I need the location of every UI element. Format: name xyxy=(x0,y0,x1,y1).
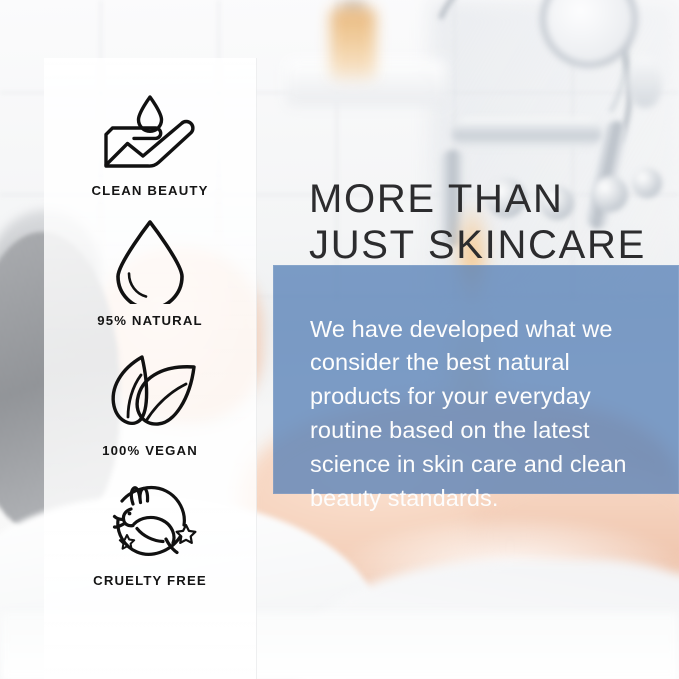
amber-bottle xyxy=(330,8,376,82)
trust-badge-panel: CLEAN BEAUTY 95% NATURAL xyxy=(44,58,257,679)
banner-canvas: CLEAN BEAUTY 95% NATURAL xyxy=(0,0,679,679)
badge-cruelty-free: CRUELTY FREE xyxy=(44,482,256,588)
badge-label: CRUELTY FREE xyxy=(93,573,207,588)
water-drop-icon xyxy=(111,222,189,300)
badge-label: 100% VEGAN xyxy=(102,443,198,458)
headline-line-1: MORE THAN xyxy=(309,176,669,222)
badge-label: 95% NATURAL xyxy=(97,313,202,328)
headline-line-2: JUST SKINCARE xyxy=(309,222,669,268)
badge-95-natural: 95% NATURAL xyxy=(44,222,256,328)
callout-body-text: We have developed what we consider the b… xyxy=(310,313,655,517)
callout-box: We have developed what we consider the b… xyxy=(273,265,679,494)
faucet-body xyxy=(452,118,602,148)
badge-list: CLEAN BEAUTY 95% NATURAL xyxy=(44,58,256,679)
rabbit-in-circle-icon xyxy=(100,482,200,560)
glass-droplet xyxy=(628,56,662,108)
page-title: MORE THAN JUST SKINCARE xyxy=(309,176,669,269)
badge-label: CLEAN BEAUTY xyxy=(91,183,208,198)
two-leaves-icon xyxy=(98,352,202,430)
badge-clean-beauty: CLEAN BEAUTY xyxy=(44,92,256,198)
badge-100-vegan: 100% VEGAN xyxy=(44,352,256,458)
hand-with-drop-icon xyxy=(96,92,204,170)
